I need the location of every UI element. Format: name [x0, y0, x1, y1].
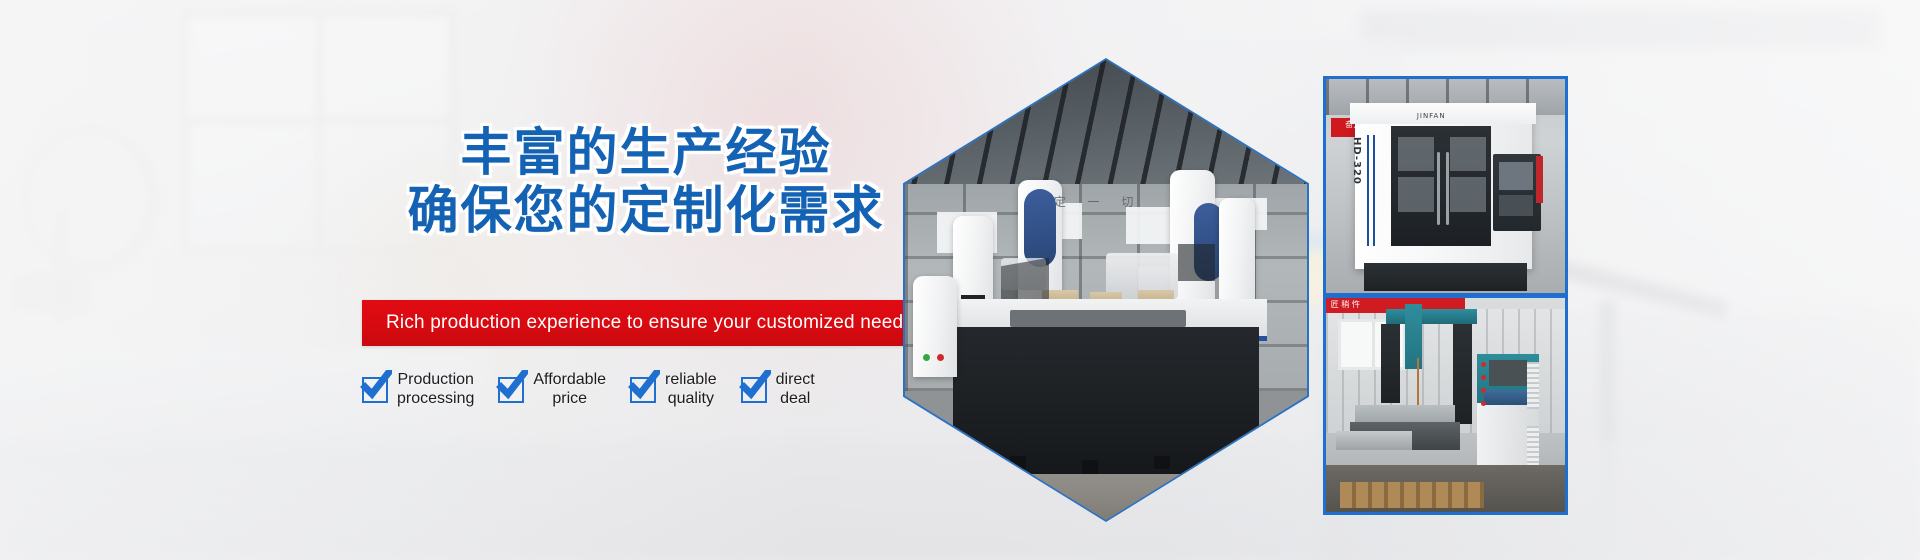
photo-door-glass — [1398, 177, 1434, 211]
subtitle-red-bar: Rich production experience to ensure you… — [362, 300, 905, 346]
photo-bed-window — [1010, 310, 1187, 327]
checkbox-checked-icon[interactable] — [630, 377, 656, 403]
feature-label: direct deal — [776, 370, 815, 408]
hero-banner: 丰富的生产经验 确保您的定制化需求 Rich production experi… — [0, 0, 1920, 560]
machining-center-photo[interactable]: 奋力 JINFAN HD-320 — [1323, 76, 1568, 296]
photo-control-screen — [1499, 162, 1532, 190]
photo-cabinet-keypad — [1484, 390, 1532, 405]
photo-door-glass — [1398, 137, 1434, 171]
photo-gantry-left-post — [1381, 324, 1400, 403]
photo-blue-stripe — [1367, 135, 1369, 246]
photo-machine-base — [953, 327, 1259, 474]
headline-line-2: 确保您的定制化需求 — [396, 183, 896, 241]
photo-gantry-beam — [1386, 309, 1477, 324]
photo-tool-changer — [1178, 244, 1214, 281]
hexagon-photo-content: 定 一 切 — [905, 60, 1307, 520]
feature-item[interactable]: Production processing — [362, 370, 474, 408]
feature-label: reliable quality — [665, 370, 717, 408]
photo-door-glass — [1450, 177, 1486, 211]
photo-overhead-sign: 定 一 切 — [1054, 193, 1143, 210]
photo-base-foot — [1082, 460, 1098, 474]
checkbox-checked-icon[interactable] — [498, 377, 524, 403]
feature-list: Production processing Affordable price r… — [362, 370, 922, 426]
feature-item[interactable]: direct deal — [741, 370, 815, 408]
photo-wall-banner-text: 匠 稍 忤 — [1331, 299, 1360, 310]
photo-window — [1126, 207, 1174, 244]
feature-item[interactable]: reliable quality — [630, 370, 717, 408]
photo-spindle-face-left — [1024, 189, 1056, 267]
subtitle-text: Rich production experience to ensure you… — [386, 312, 913, 334]
photo-roof-trusses — [905, 60, 1307, 189]
headline: 丰富的生产经验 确保您的定制化需求 — [396, 125, 896, 241]
photo-model-label: HD-320 — [1351, 137, 1362, 185]
photo-base-foot — [1154, 456, 1170, 470]
hexagon-cnc-machine-photo[interactable]: 定 一 切 — [903, 58, 1309, 522]
feature-label: Production processing — [397, 370, 474, 408]
headline-line-1: 丰富的生产经验 — [396, 125, 896, 183]
photo-work-table — [1336, 431, 1412, 450]
photo-gantry-right-post — [1453, 324, 1472, 425]
photo-red-trim — [1536, 156, 1543, 203]
photo-control-keypad — [1499, 195, 1532, 216]
photo-cutting-head — [1405, 304, 1422, 368]
feature-item[interactable]: Affordable price — [498, 370, 606, 408]
photo-wooden-pallet — [1340, 482, 1483, 508]
checkbox-checked-icon[interactable] — [741, 377, 767, 403]
photo-brand-logo: JINFAN — [1417, 112, 1446, 120]
photo-door-handle — [1446, 152, 1449, 225]
photo-cabinet-vent — [1527, 362, 1539, 409]
photo-cabinet-screen — [1489, 360, 1527, 386]
photo-blue-stripe — [1373, 135, 1375, 246]
photo-machine-plinth — [1364, 263, 1527, 291]
photo-chip-conveyor — [913, 276, 957, 377]
wire-cut-edm-photo[interactable]: 匠 稍 忤 — [1323, 295, 1568, 515]
feature-label: Affordable price — [533, 370, 606, 408]
photo-door-glass — [1450, 137, 1486, 171]
checkbox-checked-icon[interactable] — [362, 377, 388, 403]
photo-door-handle — [1437, 152, 1440, 225]
